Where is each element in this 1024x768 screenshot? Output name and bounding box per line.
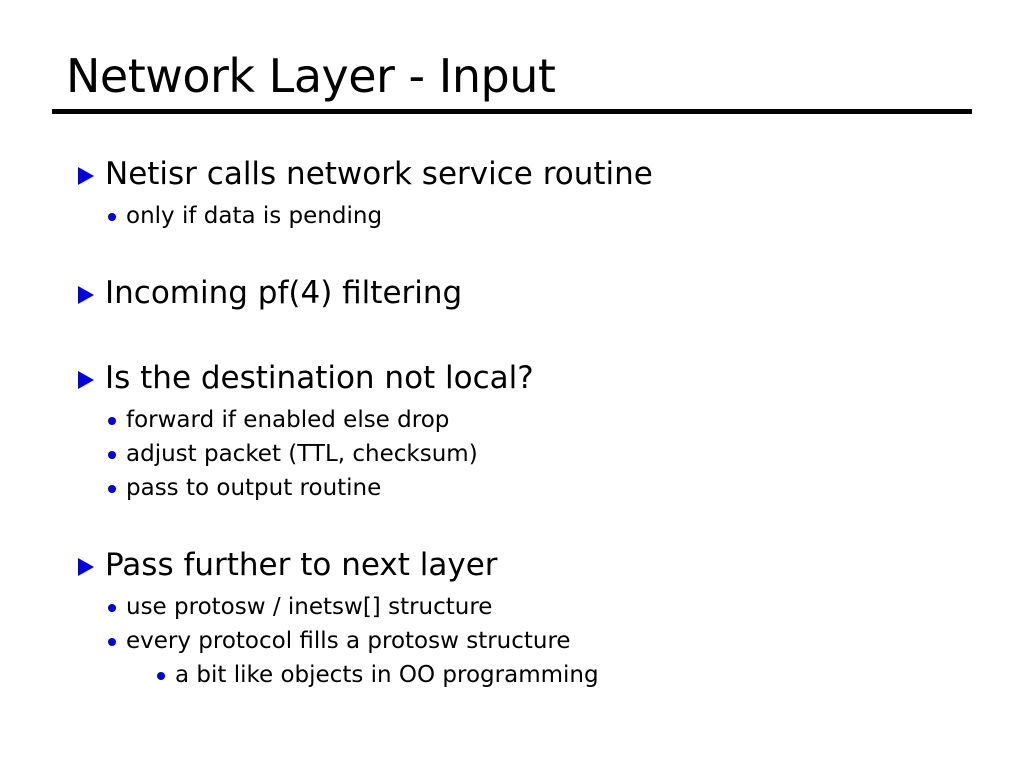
title-divider <box>52 109 972 114</box>
bullet-level2: forward if enabled else drop <box>78 403 978 437</box>
bullet-level1-label: Incoming pf(4) filtering <box>105 271 462 315</box>
dot-icon <box>108 403 126 437</box>
bullet-level2: only if data is pending <box>78 199 978 233</box>
bullet-level2-label: forward if enabled else drop <box>126 403 449 437</box>
bullet-level1: Pass further to next layer <box>78 543 978 590</box>
triangle-right-icon <box>78 359 105 403</box>
bullet-group: Netisr calls network service routineonly… <box>78 152 978 233</box>
bullet-level2: adjust packet (TTL, checksum) <box>78 437 978 471</box>
dot-icon <box>108 590 126 624</box>
bullet-level1-label: Is the destination not local? <box>105 356 534 400</box>
dot-icon <box>108 199 126 233</box>
bullet-level2-label: adjust packet (TTL, checksum) <box>126 437 478 471</box>
dot-icon <box>157 658 175 692</box>
bullet-level2: pass to output routine <box>78 471 978 505</box>
bullet-level3-label: a bit like objects in OO programming <box>175 658 599 692</box>
bullet-level2-label: only if data is pending <box>126 199 382 233</box>
triangle-right-icon <box>78 274 105 318</box>
slide-canvas: Network Layer - Input Netisr calls netwo… <box>0 0 1024 768</box>
bullet-group: Pass further to next layeruse protosw / … <box>78 543 978 692</box>
bullet-level3: a bit like objects in OO programming <box>78 658 978 692</box>
bullet-level2: every protocol fills a protosw structure <box>78 624 978 658</box>
bullet-level1-label: Pass further to next layer <box>105 543 498 587</box>
bullet-group: Incoming pf(4) filtering <box>78 271 978 318</box>
bullet-level2-label: use protosw / inetsw[] structure <box>126 590 492 624</box>
bullet-level1: Incoming pf(4) filtering <box>78 271 978 318</box>
bullet-level2-label: pass to output routine <box>126 471 381 505</box>
bullet-level2: use protosw / inetsw[] structure <box>78 590 978 624</box>
dot-icon <box>108 437 126 471</box>
bullet-level2-label: every protocol fills a protosw structure <box>126 624 571 658</box>
page-title: Network Layer - Input <box>52 48 972 104</box>
bullet-level1-label: Netisr calls network service routine <box>105 152 653 196</box>
dot-icon <box>108 471 126 505</box>
slide-header: Network Layer - Input <box>52 48 972 114</box>
bullet-level1: Is the destination not local? <box>78 356 978 403</box>
triangle-right-icon <box>78 546 105 590</box>
bullet-group: Is the destination not local?forward if … <box>78 356 978 505</box>
bullet-level1: Netisr calls network service routine <box>78 152 978 199</box>
dot-icon <box>108 624 126 658</box>
triangle-right-icon <box>78 155 105 199</box>
slide-content-list: Netisr calls network service routineonly… <box>78 152 978 692</box>
